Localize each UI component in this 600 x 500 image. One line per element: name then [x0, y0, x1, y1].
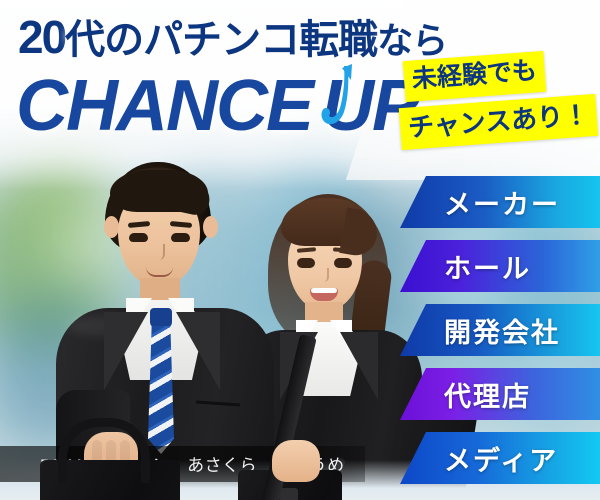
promo-badges: 未経験でも チャンスあり！	[400, 56, 600, 166]
headline-age-number: 20	[18, 11, 65, 63]
headline-tail: なら	[377, 20, 447, 61]
category-button-development-company[interactable]: 開発会社	[400, 304, 600, 356]
page-title: 20代のパチンコ転職なら	[18, 14, 438, 60]
badge-chance-available: チャンスあり！	[399, 94, 599, 150]
category-label-media: メディア	[444, 439, 558, 478]
category-button-media[interactable]: メディア	[400, 432, 600, 484]
category-button-hall[interactable]: ホール	[400, 240, 600, 292]
up-arrow-swoosh-icon	[318, 64, 358, 138]
category-label-development-company: 開発会社	[444, 311, 560, 350]
brand-word-chance: CHANCE	[16, 66, 312, 146]
briefcase-left	[40, 460, 180, 500]
category-label-hall: ホール	[444, 247, 531, 286]
striped-tie	[148, 326, 174, 454]
brand-logo: CHANCEUP	[16, 70, 418, 142]
recruitment-banner: 20代のパチンコ転職なら CHANCEUP 未経験でも チャンスあり！ メーカー…	[0, 0, 600, 500]
category-button-agency[interactable]: 代理店	[400, 368, 600, 420]
headline-main: 代のパチンコ転職	[65, 18, 377, 62]
category-label-maker: メーカー	[444, 183, 560, 222]
category-label-agency: 代理店	[444, 375, 531, 414]
badge-no-experience: 未経験でも	[403, 51, 547, 102]
category-button-maker[interactable]: メーカー	[400, 176, 600, 228]
category-list: メーカー ホール 開発会社 代理店 メディア	[400, 176, 600, 496]
